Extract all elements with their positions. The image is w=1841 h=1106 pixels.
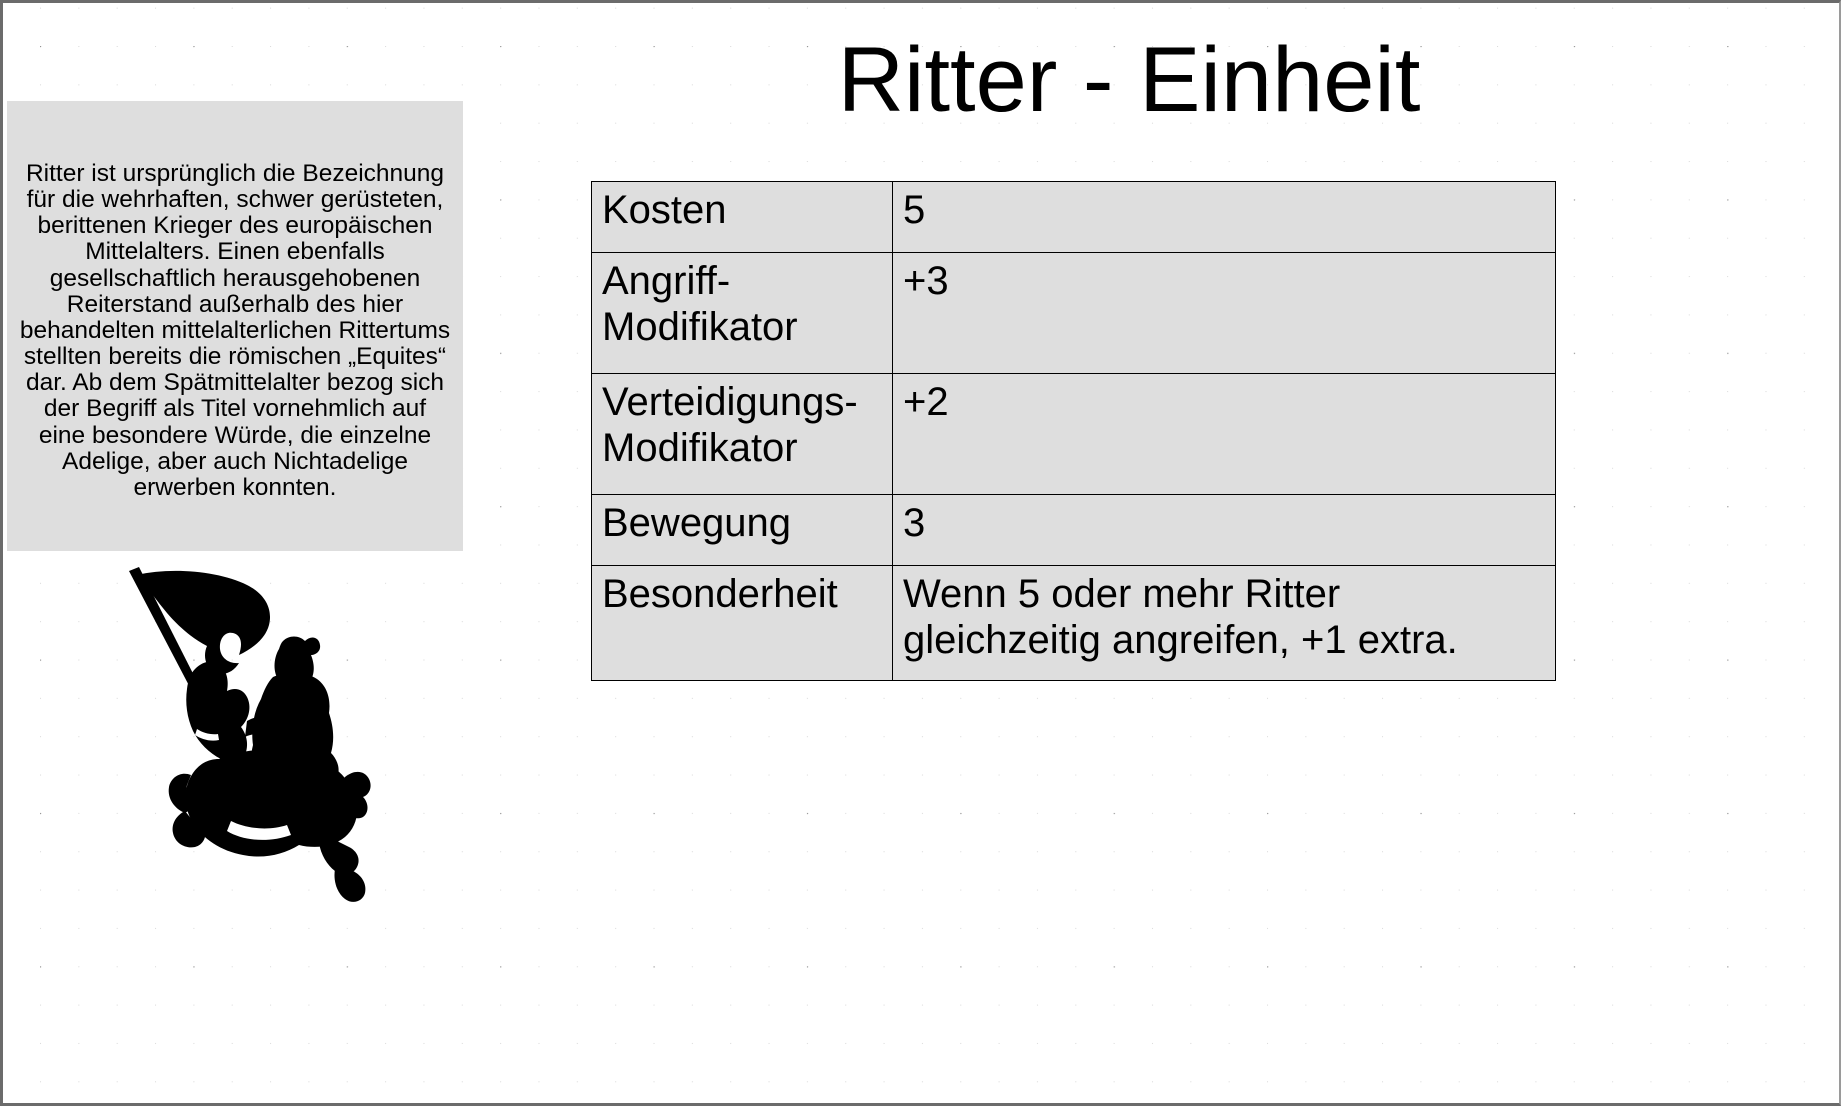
slide-canvas: Ritter - Einheit Ritter ist ursprünglich…	[0, 0, 1841, 1106]
description-panel: Ritter ist ursprünglich die Bezeichnung …	[7, 101, 463, 551]
stat-value-verteidigungs-modifikator: +2	[893, 374, 1556, 495]
stat-value-bewegung: 3	[893, 495, 1556, 566]
knight-silhouette-image	[123, 563, 373, 903]
stat-label-besonderheit: Besonderheit	[592, 566, 893, 681]
table-row: Bewegung 3	[592, 495, 1556, 566]
stat-label-bewegung: Bewegung	[592, 495, 893, 566]
stat-value-kosten: 5	[893, 182, 1556, 253]
stat-label-kosten: Kosten	[592, 182, 893, 253]
stat-value-angriff-modifikator: +3	[893, 253, 1556, 374]
table-row: Verteidigungs-Modifikator +2	[592, 374, 1556, 495]
unit-stats-table: Kosten 5 Angriff-Modifikator +3 Verteidi…	[591, 181, 1556, 681]
stat-label-verteidigungs-modifikator: Verteidigungs-Modifikator	[592, 374, 893, 495]
table-row: Besonderheit Wenn 5 oder mehr Ritter gle…	[592, 566, 1556, 681]
table-row: Kosten 5	[592, 182, 1556, 253]
description-text: Ritter ist ursprünglich die Bezeichnung …	[19, 161, 451, 501]
table-row: Angriff-Modifikator +3	[592, 253, 1556, 374]
page-title: Ritter - Einheit	[569, 31, 1689, 130]
stat-label-angriff-modifikator: Angriff-Modifikator	[592, 253, 893, 374]
stat-value-besonderheit: Wenn 5 oder mehr Ritter gleichzeitig ang…	[893, 566, 1556, 681]
